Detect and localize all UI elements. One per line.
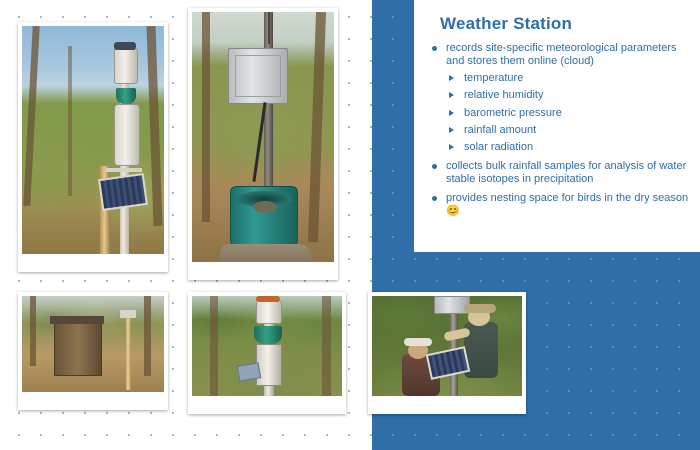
bullet-dot-icon: [432, 196, 437, 201]
bullet-text: provides nesting space for birds in the …: [446, 192, 688, 217]
rain-collector-funnel: [116, 88, 136, 104]
bullet-text: records site-specific meteorological par…: [446, 42, 676, 67]
photo-rain-collector-closeup: [188, 292, 346, 414]
antenna: [268, 12, 270, 44]
sub-bullet-item: relative humidity: [446, 89, 690, 102]
tree-trunk: [147, 26, 163, 226]
triangle-bullet-icon: [449, 144, 454, 150]
bullet-item: provides nesting space for birds in the …: [430, 192, 690, 219]
bullet-item: records site-specific meteorological par…: [430, 42, 690, 155]
stone-base: [220, 244, 312, 262]
sub-bullet-text: relative humidity: [464, 89, 543, 101]
bird-nest: [253, 201, 277, 213]
photo-image: [22, 296, 164, 392]
tree-trunk: [68, 46, 72, 196]
card-title: Weather Station: [440, 14, 690, 34]
bullet-dot-icon: [432, 46, 437, 51]
tree-trunk: [144, 296, 151, 376]
radiation-shield-sensor: [114, 48, 138, 84]
photo-image: [372, 296, 522, 396]
mast-pole: [126, 314, 131, 390]
instrument-enclosure: [228, 48, 288, 104]
sub-bullet-item: temperature: [446, 72, 690, 85]
sample-bottle: [114, 104, 140, 166]
photo-field-hut: [18, 292, 168, 410]
triangle-bullet-icon: [449, 127, 454, 133]
tree-trunk: [202, 12, 210, 222]
sub-bullet-list: temperature relative humidity barometric…: [446, 72, 690, 155]
sub-bullet-text: solar radiation: [464, 141, 533, 153]
sub-bullet-item: rainfall amount: [446, 124, 690, 137]
person-crouching-hat: [404, 338, 432, 346]
tree-trunk: [23, 26, 39, 206]
tree-trunk: [210, 296, 218, 396]
hut-roof: [50, 316, 104, 324]
triangle-bullet-icon: [449, 75, 454, 81]
weather-station-card: Weather Station records site-specific me…: [414, 0, 700, 252]
sub-bullet-text: temperature: [464, 72, 523, 84]
sub-bullet-text: barometric pressure: [464, 107, 562, 119]
tree-trunk: [322, 296, 331, 396]
cross-arm: [106, 168, 142, 172]
sub-bullet-item: solar radiation: [446, 141, 690, 154]
sensor-cap: [114, 42, 136, 50]
slide: Weather Station records site-specific me…: [0, 0, 700, 450]
triangle-bullet-icon: [449, 110, 454, 116]
tree-trunk: [308, 12, 326, 242]
photo-instrument-box-and-collector: [188, 8, 338, 280]
sensor-head: [120, 310, 136, 318]
bullet-list: records site-specific meteorological par…: [430, 42, 690, 218]
solar-panel: [98, 173, 148, 211]
photo-weather-station-mast: [18, 22, 168, 272]
orange-cap: [256, 296, 280, 302]
bullet-item: collects bulk rainfall samples for analy…: [430, 160, 690, 187]
sub-bullet-text: rainfall amount: [464, 124, 536, 136]
bullet-dot-icon: [432, 164, 437, 169]
hut: [54, 322, 102, 376]
rain-collector-funnel: [254, 326, 282, 344]
photo-image: [22, 26, 164, 254]
bullet-text: collects bulk rainfall samples for analy…: [446, 160, 686, 185]
radiation-shield-sensor: [256, 300, 282, 324]
sub-bullet-item: barometric pressure: [446, 107, 690, 120]
photo-image: [192, 12, 334, 262]
photo-image: [192, 296, 342, 396]
triangle-bullet-icon: [449, 92, 454, 98]
photo-researchers-servicing-station: [368, 292, 526, 414]
tree-trunk: [30, 296, 36, 366]
person-standing-hat: [464, 304, 496, 313]
sample-bottle: [256, 344, 282, 386]
bulk-rainfall-collector-bucket: [230, 186, 298, 250]
solar-panel: [426, 346, 471, 380]
